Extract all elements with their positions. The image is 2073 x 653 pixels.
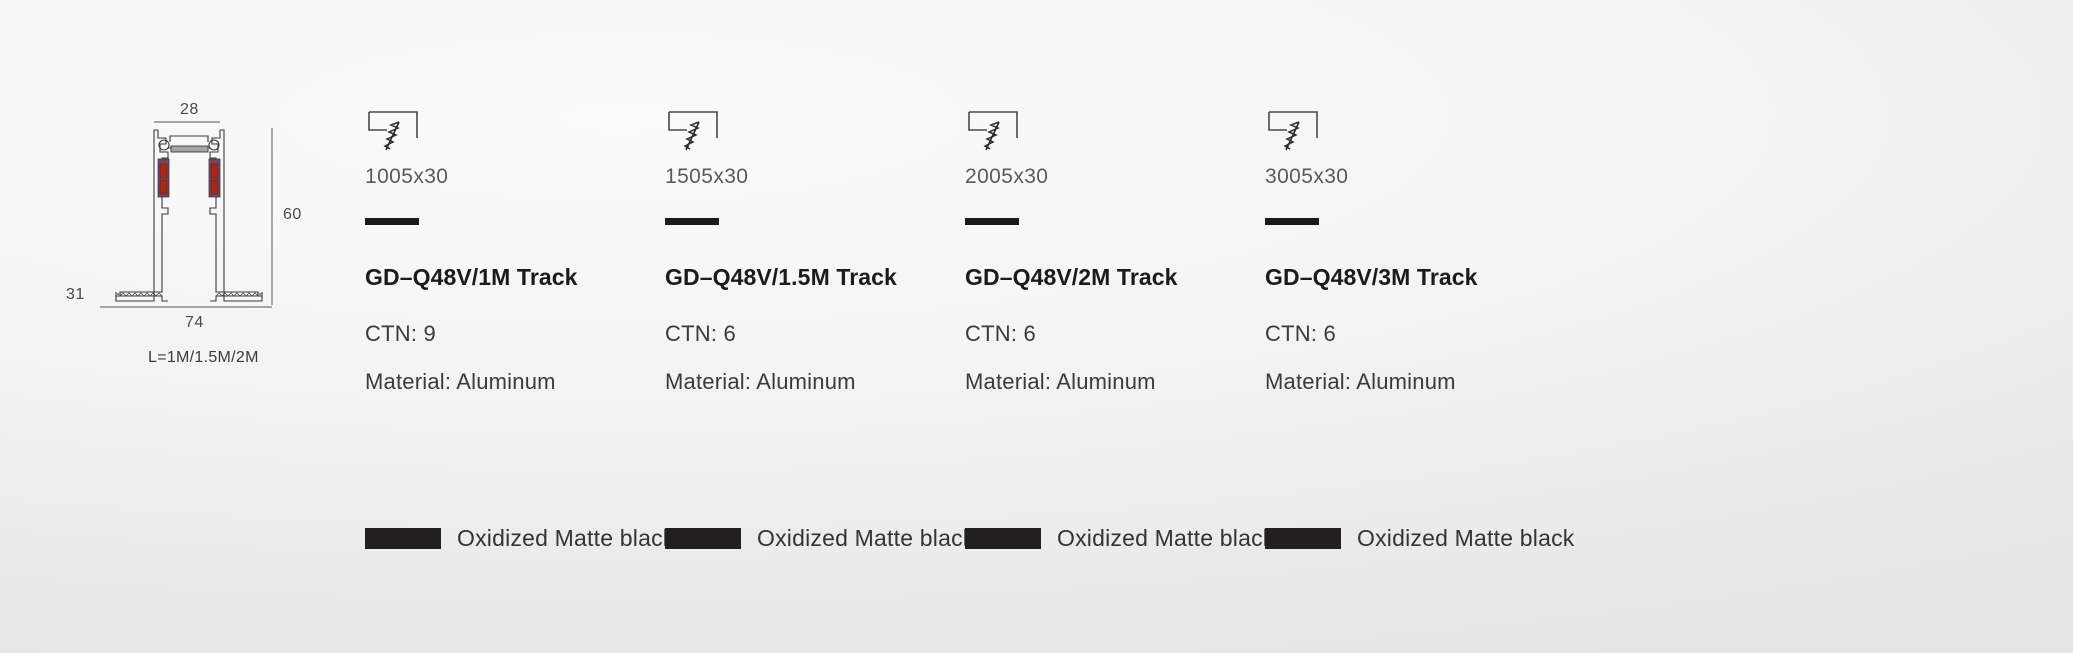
product-column: 2005x30 GD–Q48V/2M Track CTN: 6 Material… [965, 108, 1265, 448]
ctn-count: CTN: 6 [1265, 321, 1565, 347]
product-column: 1505x30 GD–Q48V/1.5M Track CTN: 6 Materi… [665, 108, 965, 448]
finish-label: Oxidized Matte black [1057, 525, 1274, 552]
ctn-count: CTN: 6 [965, 321, 1265, 347]
recessed-ceiling-mount-icon [965, 108, 1025, 156]
finish-option[interactable]: Oxidized Matte black [665, 525, 965, 552]
product-name: GD–Q48V/2M Track [965, 264, 1265, 291]
technical-drawing: 28 60 31 74 L=1M/1.5M/2M [58, 96, 358, 396]
ctn-count: CTN: 6 [665, 321, 965, 347]
accent-rule [1265, 218, 1319, 225]
package-size-label: 3005x30 [1265, 165, 1565, 189]
finish-swatch-row: Oxidized Matte black Oxidized Matte blac… [365, 525, 2045, 552]
finish-label: Oxidized Matte black [757, 525, 974, 552]
color-swatch-icon [665, 528, 741, 549]
finish-option[interactable]: Oxidized Matte black [1265, 525, 1565, 552]
recessed-ceiling-mount-icon [365, 108, 425, 156]
package-size-label: 1005x30 [365, 165, 665, 189]
length-caption: L=1M/1.5M/2M [148, 349, 259, 367]
product-name: GD–Q48V/3M Track [1265, 264, 1565, 291]
color-swatch-icon [365, 528, 441, 549]
product-column: 3005x30 GD–Q48V/3M Track CTN: 6 Material… [1265, 108, 1565, 448]
recessed-ceiling-mount-icon [665, 108, 725, 156]
material-spec: Material: Aluminum [365, 369, 665, 395]
material-spec: Material: Aluminum [665, 369, 965, 395]
dimension-width-top: 28 [180, 101, 199, 119]
finish-label: Oxidized Matte black [457, 525, 674, 552]
product-name: GD–Q48V/1M Track [365, 264, 665, 291]
color-swatch-icon [965, 528, 1041, 549]
accent-rule [665, 218, 719, 225]
product-column: 1005x30 GD–Q48V/1M Track CTN: 9 Material… [365, 108, 665, 448]
product-name: GD–Q48V/1.5M Track [665, 264, 965, 291]
dimension-height-right: 60 [283, 206, 302, 224]
finish-label: Oxidized Matte black [1357, 525, 1574, 552]
material-spec: Material: Aluminum [965, 369, 1265, 395]
ctn-count: CTN: 9 [365, 321, 665, 347]
finish-option[interactable]: Oxidized Matte black [365, 525, 665, 552]
material-spec: Material: Aluminum [1265, 369, 1565, 395]
color-swatch-icon [1265, 528, 1341, 549]
recessed-ceiling-mount-icon [1265, 108, 1325, 156]
finish-option[interactable]: Oxidized Matte black [965, 525, 1265, 552]
package-size-label: 1505x30 [665, 165, 965, 189]
product-spec-sheet: 28 60 31 74 L=1M/1.5M/2M 1005x30 GD–Q48V… [0, 0, 2073, 653]
package-size-label: 2005x30 [965, 165, 1265, 189]
dimension-width-bottom: 74 [185, 314, 204, 332]
accent-rule [965, 218, 1019, 225]
dimension-flange-left: 31 [66, 286, 85, 304]
accent-rule [365, 218, 419, 225]
product-columns: 1005x30 GD–Q48V/1M Track CTN: 9 Material… [365, 108, 2035, 448]
